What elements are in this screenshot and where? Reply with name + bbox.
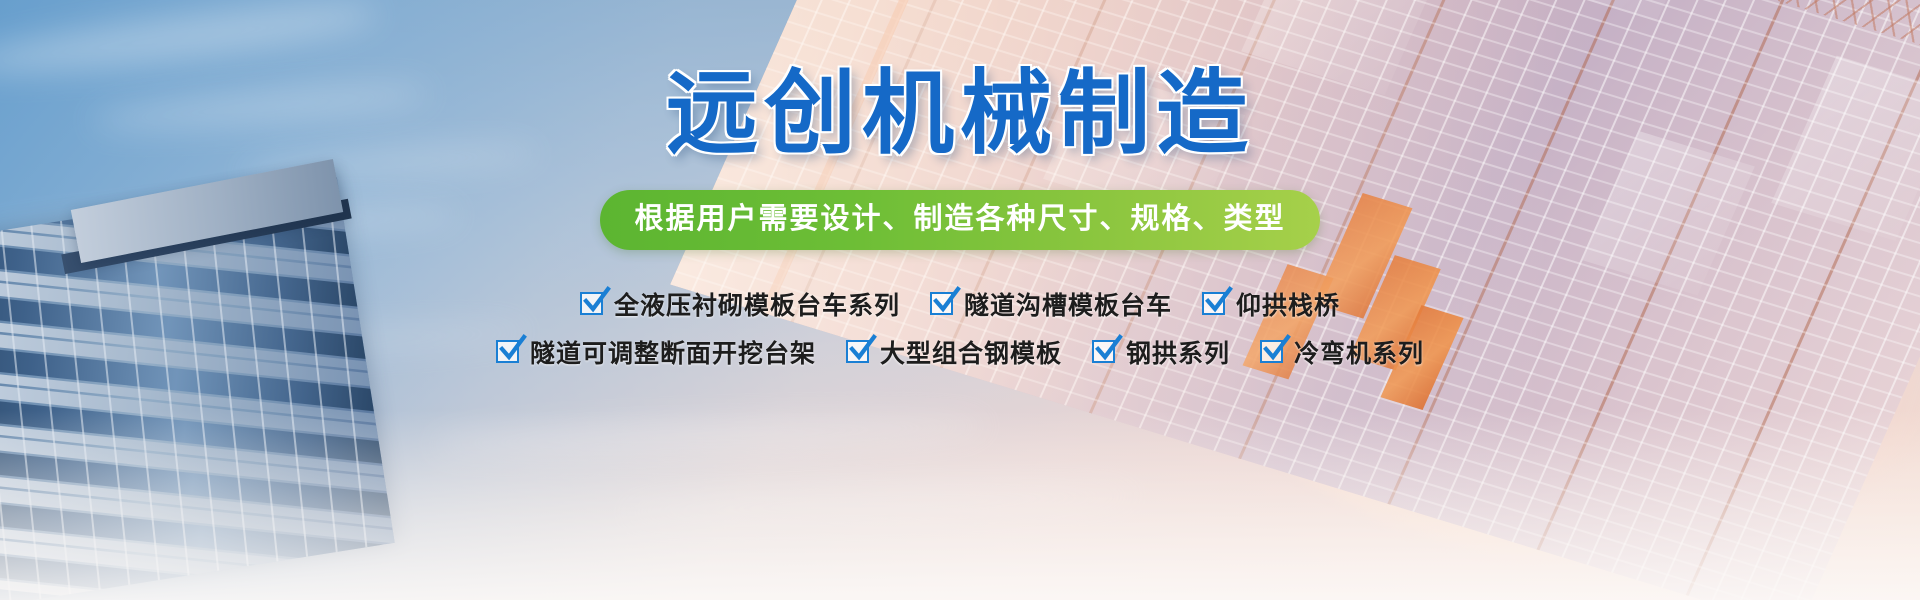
checkbox-checked-icon[interactable] — [846, 340, 869, 363]
feature-item-label: 钢拱系列 — [1126, 334, 1230, 370]
checkbox-checked-icon[interactable] — [1202, 292, 1225, 315]
feature-item[interactable]: 冷弯机系列 — [1260, 334, 1424, 370]
feature-row: 全液压衬砌模板台车系列隧道沟槽模板台车仰拱栈桥 — [580, 286, 1340, 322]
feature-item-label: 冷弯机系列 — [1294, 334, 1424, 370]
checkbox-checked-icon[interactable] — [496, 340, 519, 363]
promo-banner: 远创机械制造 根据用户需要设计、制造各种尺寸、规格、类型 全液压衬砌模板台车系列… — [0, 0, 1920, 600]
checkbox-checked-icon[interactable] — [930, 292, 953, 315]
feature-item[interactable]: 仰拱栈桥 — [1202, 286, 1340, 322]
feature-item-label: 隧道沟槽模板台车 — [964, 286, 1172, 322]
feature-item[interactable]: 隧道可调整断面开挖台架 — [496, 334, 816, 370]
checkbox-checked-icon[interactable] — [580, 292, 603, 315]
banner-content: 远创机械制造 根据用户需要设计、制造各种尺寸、规格、类型 全液压衬砌模板台车系列… — [0, 0, 1920, 600]
feature-item[interactable]: 钢拱系列 — [1092, 334, 1230, 370]
feature-item[interactable]: 隧道沟槽模板台车 — [930, 286, 1172, 322]
banner-subtitle-pill: 根据用户需要设计、制造各种尺寸、规格、类型 — [600, 190, 1319, 250]
feature-item[interactable]: 大型组合钢模板 — [846, 334, 1062, 370]
feature-item-label: 仰拱栈桥 — [1236, 286, 1340, 322]
banner-headline: 远创机械制造 — [666, 66, 1254, 164]
feature-item-label: 全液压衬砌模板台车系列 — [614, 286, 900, 322]
feature-list: 全液压衬砌模板台车系列隧道沟槽模板台车仰拱栈桥隧道可调整断面开挖台架大型组合钢模… — [496, 286, 1424, 370]
checkbox-checked-icon[interactable] — [1260, 340, 1283, 363]
checkbox-checked-icon[interactable] — [1092, 340, 1115, 363]
feature-row: 隧道可调整断面开挖台架大型组合钢模板钢拱系列冷弯机系列 — [496, 334, 1424, 370]
feature-item-label: 隧道可调整断面开挖台架 — [530, 334, 816, 370]
feature-item[interactable]: 全液压衬砌模板台车系列 — [580, 286, 900, 322]
feature-item-label: 大型组合钢模板 — [880, 334, 1062, 370]
